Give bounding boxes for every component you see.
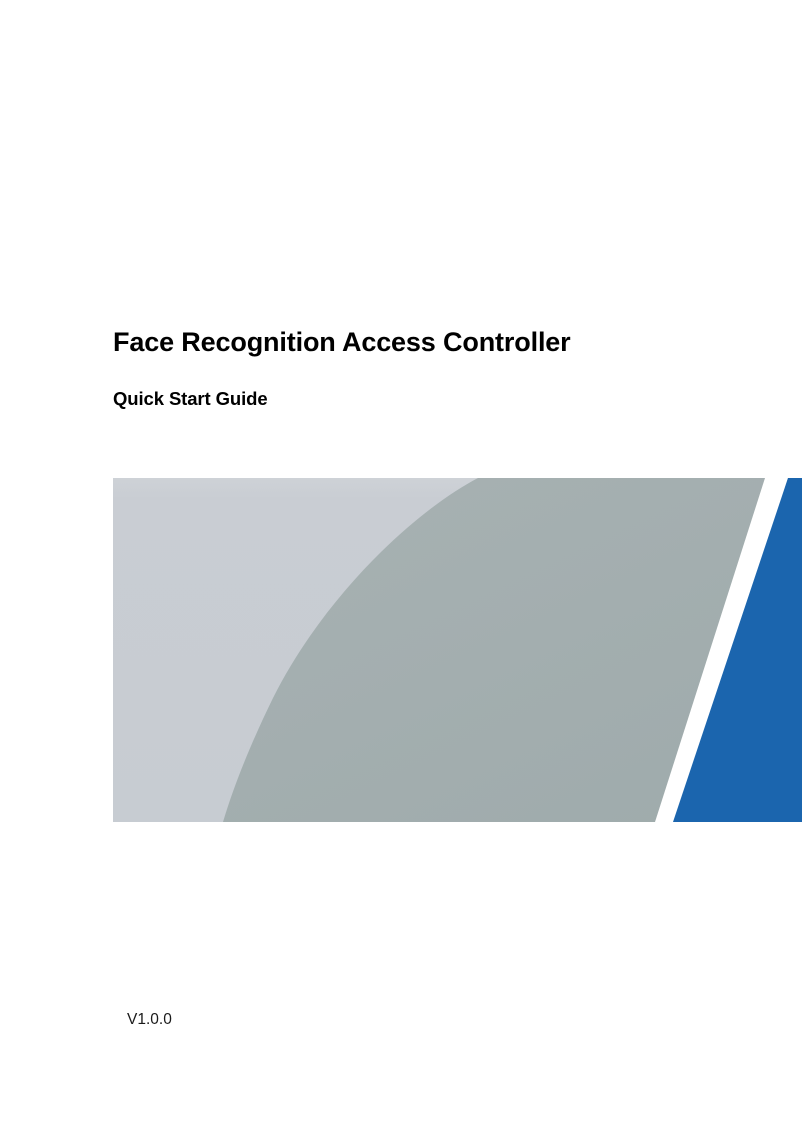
- title-block: Face Recognition Access Controller Quick…: [113, 326, 753, 358]
- document-cover-page: Face Recognition Access Controller Quick…: [0, 0, 802, 1134]
- page-subtitle: Quick Start Guide: [113, 388, 268, 410]
- page-title: Face Recognition Access Controller: [113, 326, 753, 358]
- document-version: V1.0.0: [127, 1010, 172, 1030]
- cover-banner-graphic: [113, 478, 802, 822]
- cover-banner-svg: [113, 478, 802, 822]
